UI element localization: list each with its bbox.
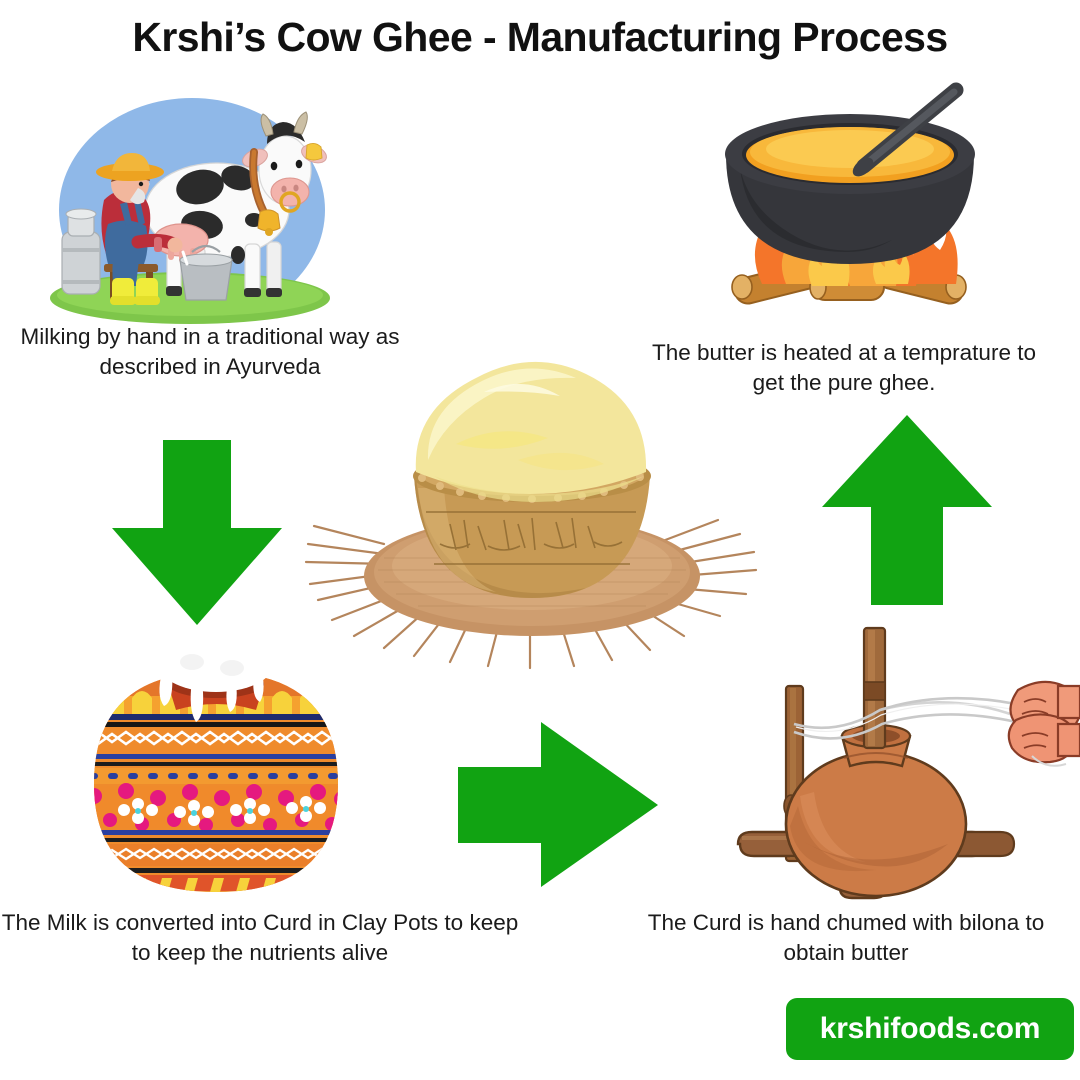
arrow-right-icon (458, 722, 658, 887)
bilona-churner-illustration (728, 628, 1080, 910)
arrow-down-icon (112, 440, 282, 625)
decorated-clay-pot-illustration (80, 628, 352, 900)
ghee-bowl-on-burlap (288, 348, 784, 670)
step-3-caption: The Curd is hand chumed with bilona to o… (646, 908, 1046, 968)
website-badge-label: krshifoods.com (820, 1012, 1041, 1046)
arrow-up-icon (822, 415, 992, 605)
website-badge[interactable]: krshifoods.com (786, 998, 1074, 1060)
step-2-caption: The Milk is converted into Curd in Clay … (0, 908, 520, 968)
page-title: Krshi’s Cow Ghee - Manufacturing Process (0, 14, 1080, 61)
cow-milking-illustration (42, 92, 342, 320)
infographic-canvas: Krshi’s Cow Ghee - Manufacturing Process (0, 0, 1080, 1080)
cauldron-on-fire-illustration (700, 88, 1000, 318)
